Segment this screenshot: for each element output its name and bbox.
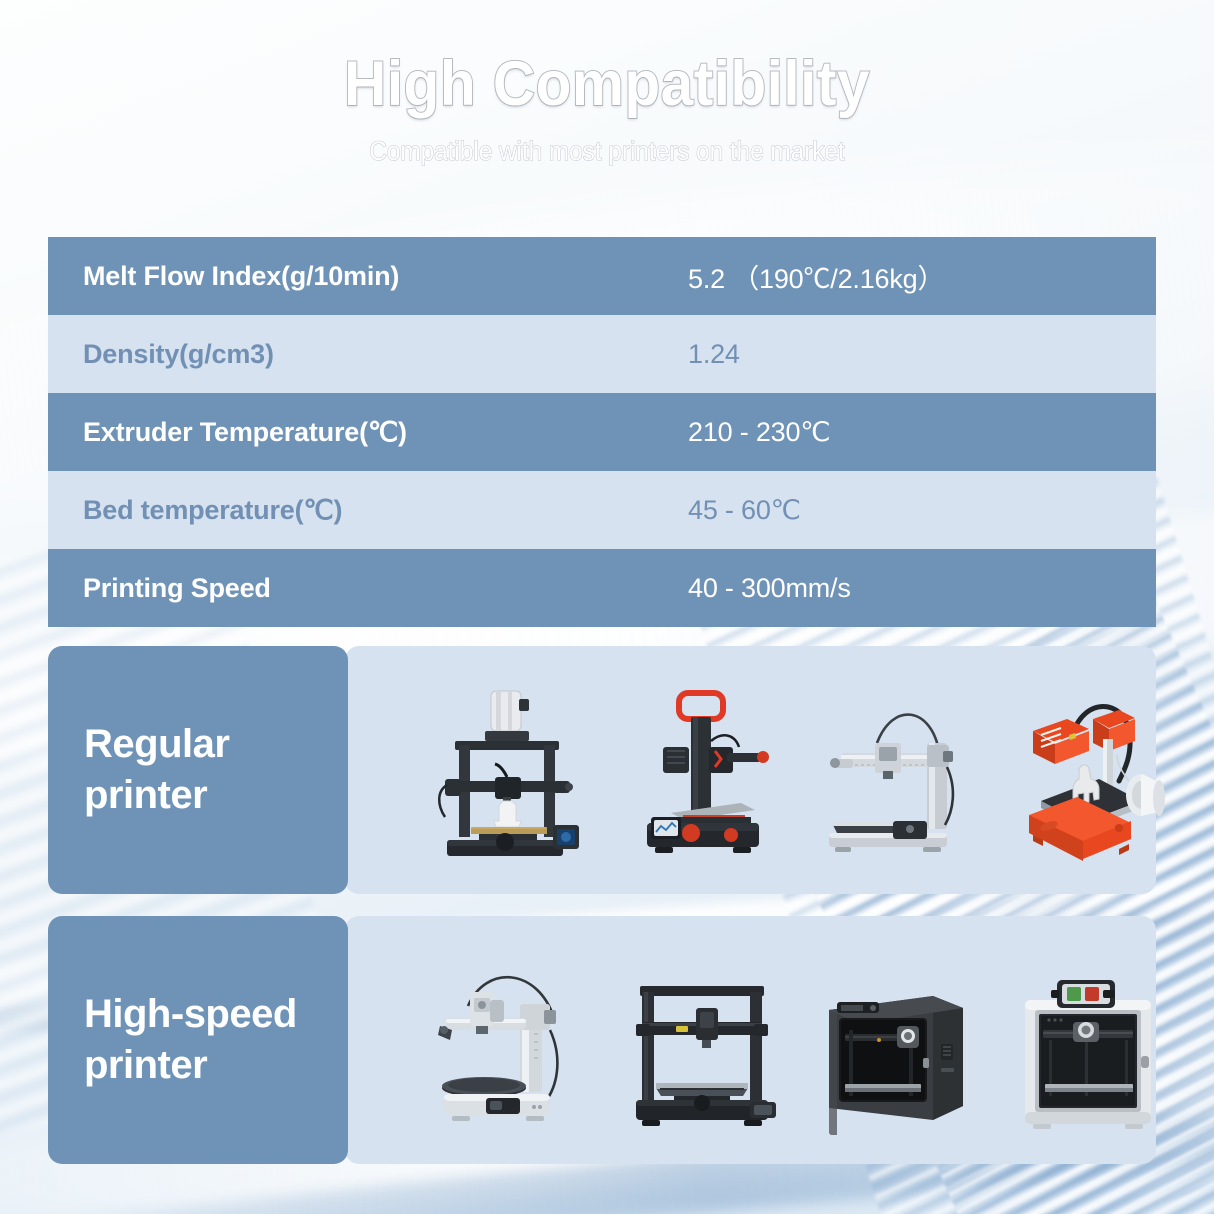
category-label: Regular printer: [84, 719, 229, 821]
category-label-line-2: printer: [84, 773, 207, 817]
category-tag-high-speed-printer: High-speed printer: [48, 916, 348, 1164]
table-row: Melt Flow Index(g/10min) 5.2 （190℃/2.16k…: [48, 237, 1156, 315]
table-row: Extruder Temperature(℃) 210 - 230℃: [48, 393, 1156, 471]
infographic-page: High Compatibility Compatible with most …: [0, 0, 1214, 1214]
category-label-line-1: High-speed: [84, 992, 297, 1036]
category-label-line-1: Regular: [84, 722, 229, 766]
category-tag-regular-printer: Regular printer: [48, 646, 348, 894]
spec-value: 45 - 60℃: [688, 495, 801, 526]
spec-label: Density(g/cm3): [48, 339, 688, 370]
spec-value: 1.24: [688, 339, 740, 370]
table-row: Printing Speed 40 - 300mm/s: [48, 549, 1156, 627]
printer-image-enclosed-box-printer-white: [1004, 945, 1174, 1135]
header: High Compatibility Compatible with most …: [0, 0, 1214, 167]
spec-label: Melt Flow Index(g/10min): [48, 261, 688, 292]
category-block-high-speed-printer: High-speed printer: [48, 916, 1156, 1164]
table-row: Bed temperature(℃) 45 - 60℃: [48, 471, 1156, 549]
category-label-line-2: printer: [84, 1043, 207, 1087]
printer-image-cartesian-frame-printer-dark: [617, 945, 787, 1135]
spec-value: 210 - 230℃: [688, 417, 830, 448]
printer-image-enclosed-box-printer-black: [810, 945, 980, 1135]
spec-value: 40 - 300mm/s: [688, 573, 851, 604]
printer-image-strip: [393, 916, 1204, 1164]
spec-value: 5.2 （190℃/2.16kg）: [688, 257, 944, 296]
spec-table: Melt Flow Index(g/10min) 5.2 （190℃/2.16k…: [48, 237, 1156, 627]
spec-label: Printing Speed: [48, 573, 688, 604]
printer-image-cartesian-frame-printer-black: [423, 675, 593, 865]
printer-image-portable-handle-printer-red: [617, 675, 787, 865]
page-title: High Compatibility: [42, 48, 1171, 120]
printer-image-strip: [393, 646, 1204, 894]
table-row: Density(g/cm3) 1.24: [48, 315, 1156, 393]
printer-image-mini-desktop-printer-orange: [1004, 675, 1174, 865]
page-subtitle: Compatible with most printers on the mar…: [61, 136, 1154, 167]
category-label: High-speed printer: [84, 989, 297, 1091]
spec-label: Bed temperature(℃): [48, 495, 688, 526]
printer-image-open-gantry-printer-silver: [810, 675, 980, 865]
spec-label: Extruder Temperature(℃): [48, 417, 688, 448]
category-block-regular-printer: Regular printer: [48, 646, 1156, 894]
printer-image-single-arm-printer-white: [423, 945, 593, 1135]
